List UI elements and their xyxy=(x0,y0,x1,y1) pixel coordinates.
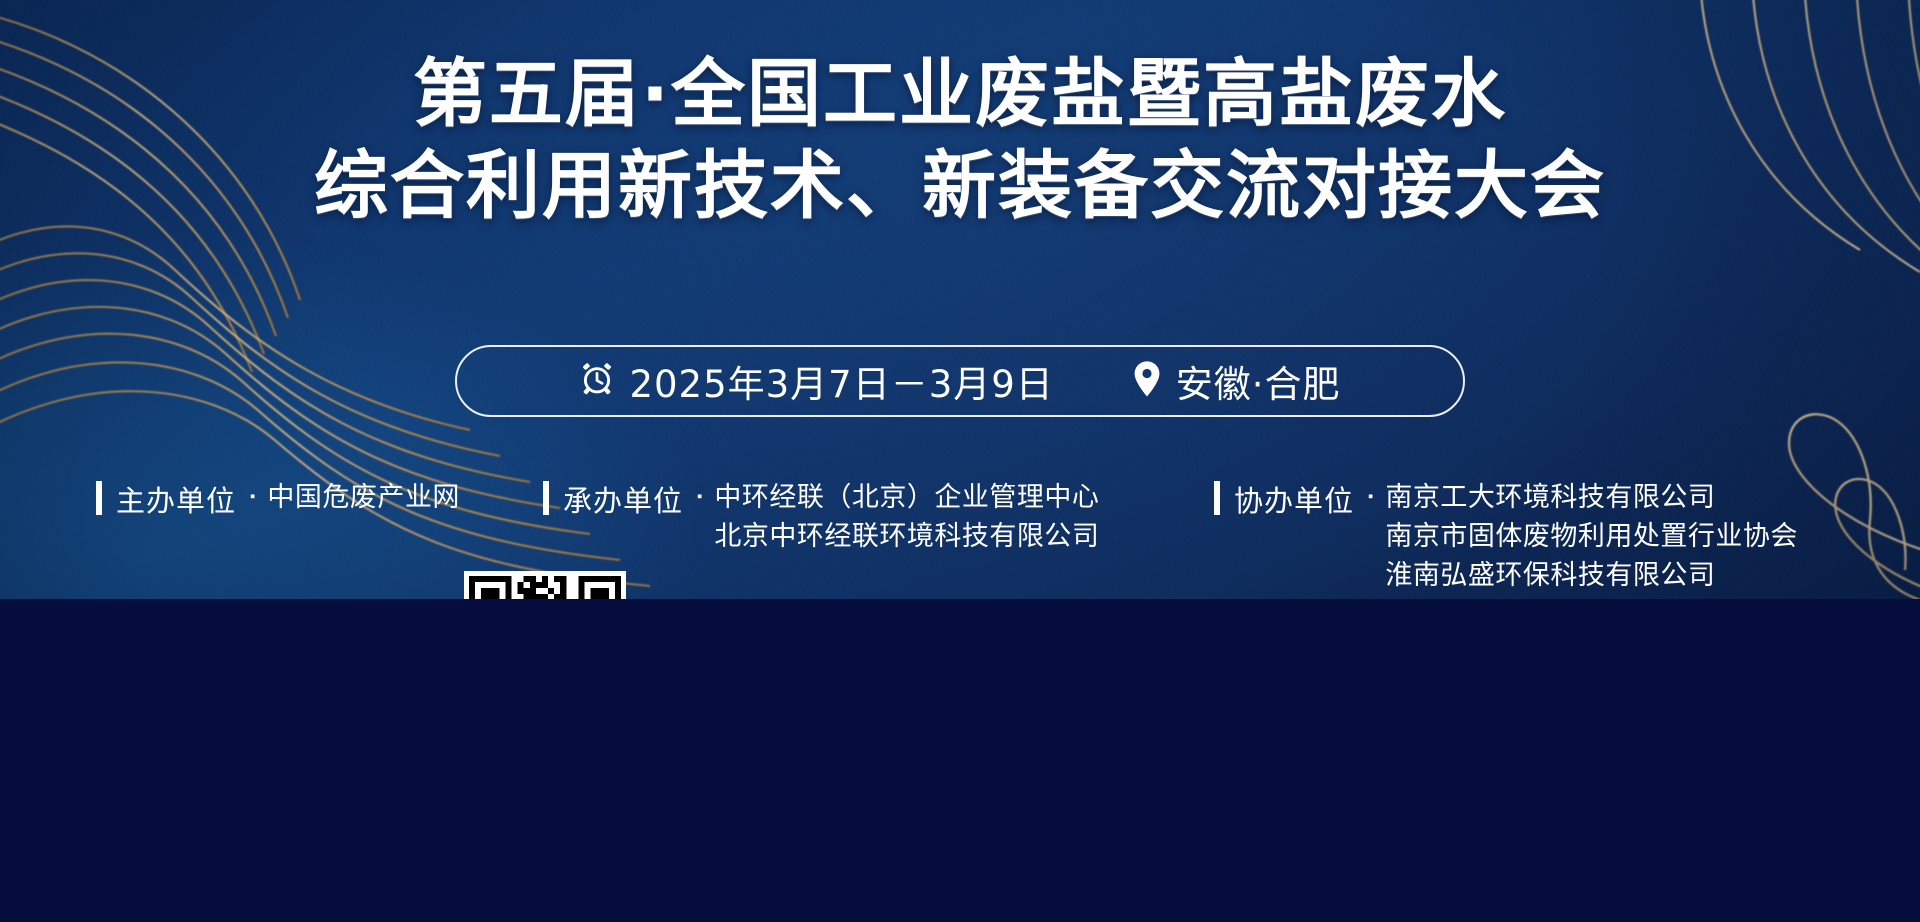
event-date-group: 2025年3月7日－3月9日 xyxy=(579,354,1053,408)
organizer-group-coorganizer: 承办单位 ▪ 中环经联（北京）企业管理中心 北京中环经联环境科技有限公司 xyxy=(543,478,1099,556)
organizer-values-host: 中国危废产业网 xyxy=(267,478,460,517)
accent-bar-icon xyxy=(96,481,102,515)
organizer-group-host: 主办单位 ▪ 中国危废产业网 xyxy=(96,478,460,520)
lower-panel xyxy=(0,599,1920,922)
alarm-clock-icon xyxy=(579,361,615,402)
organizer-value: 南京工大环境科技有限公司 xyxy=(1385,478,1798,517)
organizer-label-coorganizer: 承办单位 xyxy=(563,478,683,520)
organizers-section: 主办单位 ▪ 中国危废产业网 承办单位 ▪ 中环经联（北京）企业管理中心 北京中… xyxy=(0,478,1920,598)
organizer-values-supporter: 南京工大环境科技有限公司 南京市固体废物利用处置行业协会 淮南弘盛环保科技有限公… xyxy=(1385,478,1798,595)
organizer-separator-icon: ▪ xyxy=(250,478,255,516)
event-info-pill: 2025年3月7日－3月9日 安徽·合肥 xyxy=(455,345,1465,417)
conference-banner: 第五届·全国工业废盐暨高盐废水 综合利用新技术、新装备交流对接大会 xyxy=(0,0,1920,599)
organizer-separator-icon: ▪ xyxy=(1368,478,1373,516)
page-title-line-2: 综合利用新技术、新装备交流对接大会 xyxy=(0,144,1920,230)
accent-bar-icon xyxy=(1214,481,1220,515)
event-location-text: 安徽·合肥 xyxy=(1176,354,1341,408)
organizer-value: 北京中环经联环境科技有限公司 xyxy=(714,517,1099,556)
organizer-value: 淮南弘盛环保科技有限公司 xyxy=(1385,556,1798,595)
page-title-line-1: 第五届·全国工业废盐暨高盐废水 xyxy=(0,52,1920,138)
page-root: 第五届·全国工业废盐暨高盐废水 综合利用新技术、新装备交流对接大会 xyxy=(0,0,1920,922)
event-location-group: 安徽·合肥 xyxy=(1132,354,1341,408)
organizer-value: 南京市固体废物利用处置行业协会 xyxy=(1385,517,1798,556)
organizer-label-host: 主办单位 xyxy=(116,478,236,520)
organizer-value: 中国危废产业网 xyxy=(267,478,460,517)
event-date-text: 2025年3月7日－3月9日 xyxy=(629,354,1053,408)
organizer-separator-icon: ▪ xyxy=(697,478,702,516)
organizer-value: 中环经联（北京）企业管理中心 xyxy=(714,478,1099,517)
qr-code[interactable] xyxy=(464,571,626,599)
accent-bar-icon xyxy=(543,481,549,515)
banner-title-block: 第五届·全国工业废盐暨高盐废水 综合利用新技术、新装备交流对接大会 xyxy=(0,52,1920,230)
organizer-group-supporter: 协办单位 ▪ 南京工大环境科技有限公司 南京市固体废物利用处置行业协会 淮南弘盛… xyxy=(1214,478,1798,595)
organizer-values-coorganizer: 中环经联（北京）企业管理中心 北京中环经联环境科技有限公司 xyxy=(714,478,1099,556)
location-pin-icon xyxy=(1132,360,1162,403)
organizer-label-supporter: 协办单位 xyxy=(1234,478,1354,520)
